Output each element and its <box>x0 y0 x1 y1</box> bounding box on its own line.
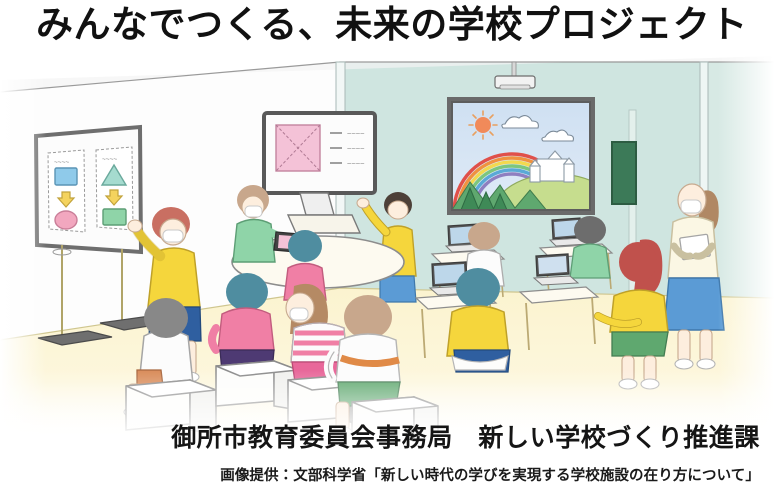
svg-text:~~~~: ~~~~ <box>347 159 365 168</box>
organization-name: 御所市教育委員会事務局 新しい学校づくり推進課 <box>0 421 766 455</box>
svg-text:~~~~: ~~~~ <box>102 156 117 163</box>
svg-text:~~~~: ~~~~ <box>54 159 69 166</box>
classroom-illustration: ~~~~ ~~~~ <box>0 40 774 440</box>
whiteboard-card-right: ~~~~ <box>96 147 133 230</box>
image-credit: 画像提供：文部科学省「新しい時代の学びを実現する学校施設の在り方について」 <box>0 466 766 486</box>
svg-text:~~~~: ~~~~ <box>347 144 365 153</box>
whiteboard-card-left: ~~~~ <box>48 150 85 232</box>
svg-text:~~~~: ~~~~ <box>347 129 365 138</box>
chalkboard-right <box>612 142 636 204</box>
classroom-illustration-svg: ~~~~ ~~~~ <box>0 40 774 440</box>
page-title: みんなでつくる、未来の学校プロジェクト <box>36 2 736 48</box>
poster-root: ~~~~ ~~~~ <box>0 0 774 497</box>
